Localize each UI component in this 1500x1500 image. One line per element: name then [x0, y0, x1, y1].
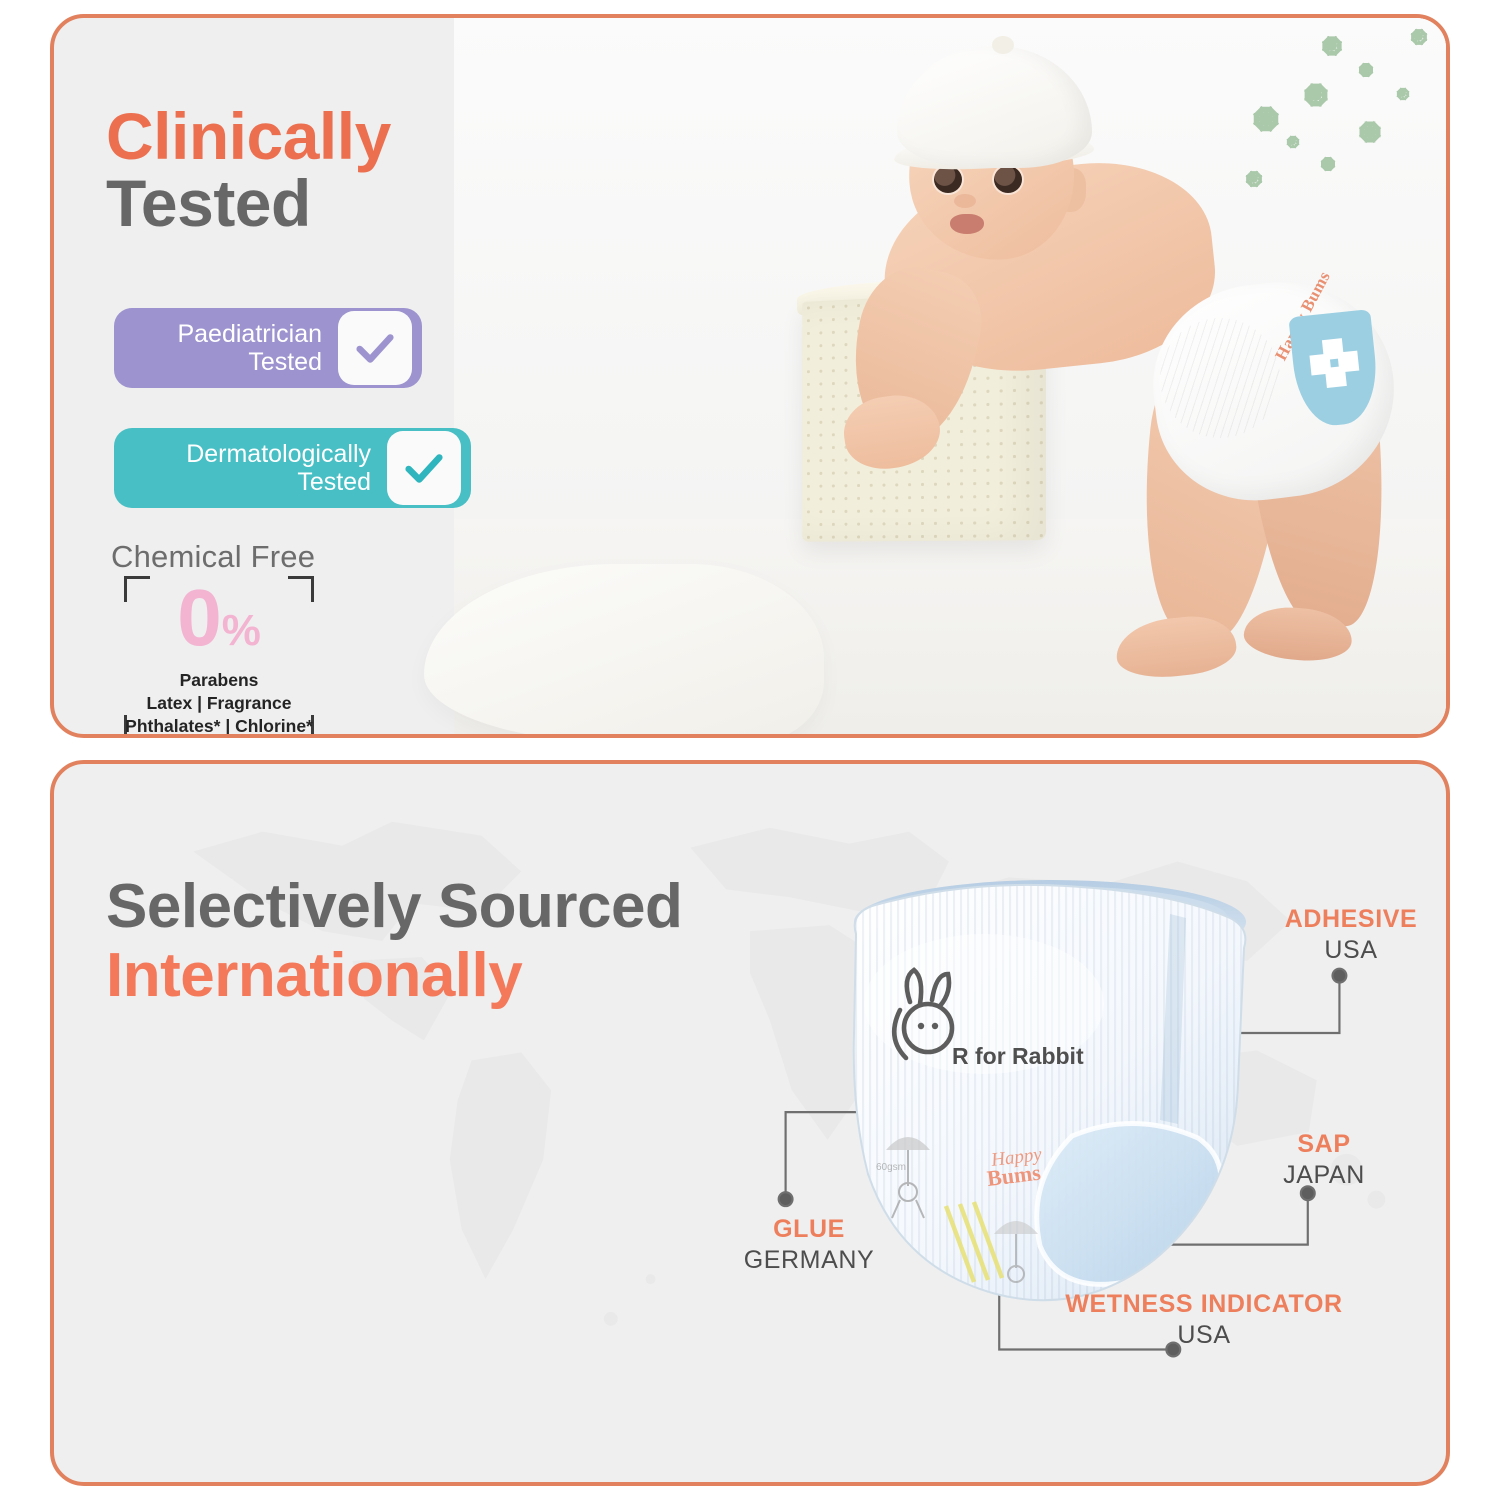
panel-selectively-sourced: Selectively Sourced Internationally — [50, 760, 1450, 1486]
callout-adhesive: ADHESIVE USA — [1236, 904, 1450, 967]
badge-paediatrician-tested[interactable]: Paediatrician Tested — [114, 308, 422, 388]
check-icon — [387, 431, 461, 505]
badge-paediatrician-label: Paediatrician Tested — [114, 308, 338, 388]
selectively-sourced-heading: Selectively Sourced Internationally — [106, 872, 682, 1011]
germ-icon — [1414, 32, 1423, 41]
baby-foot-left — [1113, 612, 1238, 682]
germ-icon — [1326, 40, 1337, 51]
heading-line-2: Internationally — [106, 941, 682, 1010]
badge-dermatologically-label: Dermatologically Tested — [114, 428, 387, 508]
germ-icon — [1249, 174, 1258, 183]
germ-icon — [1289, 138, 1296, 145]
baby-figure: Happy Bums — [454, 18, 1446, 734]
callout-country: USA — [1236, 935, 1450, 966]
heading-line-1: Selectively Sourced — [106, 872, 682, 941]
baby-mouth — [950, 214, 984, 234]
chemical-free-item: Parabens — [110, 670, 328, 691]
callout-sap: SAP JAPAN — [1239, 1129, 1409, 1192]
callout-glue: GLUE GERMANY — [694, 1214, 924, 1277]
svg-text:60gsm: 60gsm — [876, 1162, 906, 1173]
baby-hat-knot — [992, 36, 1014, 54]
chemical-free-number: 0 — [177, 573, 222, 662]
clinically-tested-heading: Clinically Tested — [106, 103, 391, 238]
chemical-free-item: Phthalates* | Chlorine* — [110, 716, 328, 737]
heading-line-2: Tested — [106, 170, 391, 237]
callout-name: GLUE — [694, 1214, 924, 1245]
baby-photo-scene: Happy Bums — [454, 18, 1446, 734]
chemical-free-bracket-box: 0% Parabens Latex | Fragrance Phthalates… — [124, 576, 314, 738]
baby-hat — [897, 46, 1092, 168]
chemical-free-title: Chemical Free — [111, 539, 315, 575]
badge-label-line2: Tested — [297, 468, 371, 496]
badge-label-line1: Dermatologically — [186, 440, 371, 468]
brand-name-text: R for Rabbit — [952, 1043, 1084, 1069]
germ-icon — [1324, 160, 1332, 168]
baby-nose — [954, 194, 976, 208]
callout-name: ADHESIVE — [1236, 904, 1450, 935]
chemical-free-unit: % — [222, 606, 261, 655]
callout-wetness-indicator: WETNESS INDICATOR USA — [994, 1289, 1414, 1352]
chemical-free-value: 0% — [124, 578, 314, 658]
callout-name: WETNESS INDICATOR — [994, 1289, 1414, 1320]
badge-dermatologically-tested[interactable]: Dermatologically Tested — [114, 428, 471, 508]
badge-label-line1: Paediatrician — [177, 320, 322, 348]
germ-icon — [1259, 112, 1273, 126]
heading-line-1: Clinically — [106, 103, 391, 170]
baby-eye-right — [994, 166, 1022, 193]
panel-clinically-tested: Happy Bums — [50, 14, 1450, 738]
germ-icon — [1399, 90, 1406, 97]
callout-name: SAP — [1239, 1129, 1409, 1160]
germ-icon — [1364, 126, 1376, 138]
check-icon — [338, 311, 412, 385]
chemical-free-item: Latex | Fragrance — [110, 693, 328, 714]
germ-icon — [1309, 88, 1322, 101]
callout-country: USA — [994, 1320, 1414, 1351]
infographic-root: Happy Bums — [0, 0, 1500, 1500]
germ-icon — [1362, 66, 1370, 74]
badge-label-line2: Tested — [248, 348, 322, 376]
baby-eye-left — [934, 166, 962, 193]
callout-country: GERMANY — [694, 1245, 924, 1276]
callout-country: JAPAN — [1239, 1160, 1409, 1191]
